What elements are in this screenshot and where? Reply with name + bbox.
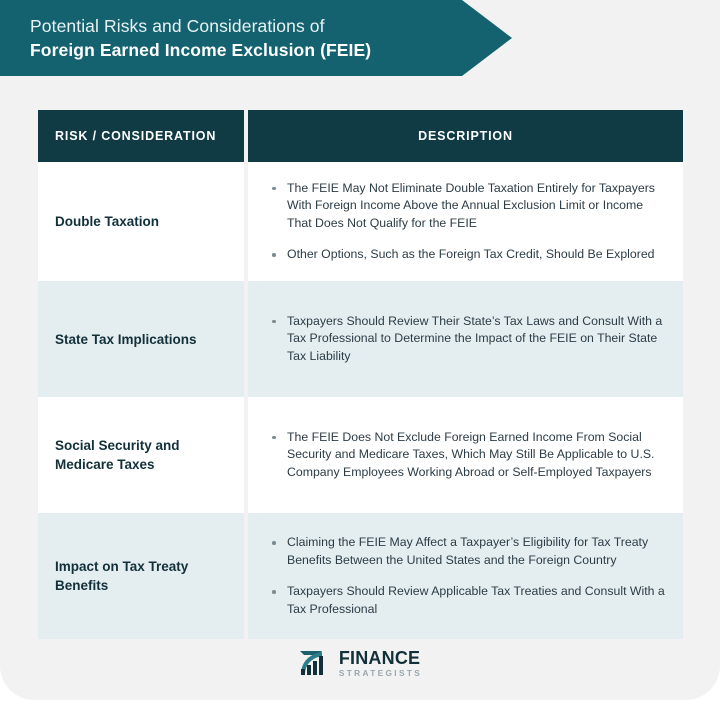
description-cell: Taxpayers Should Review Their State’s Ta… — [248, 281, 683, 397]
description-cell: The FEIE Does Not Exclude Foreign Earned… — [248, 397, 683, 513]
description-list: Claiming the FEIE May Affect a Taxpayer’… — [270, 534, 665, 618]
title-banner: Potential Risks and Considerations of Fo… — [0, 0, 512, 76]
list-item: The FEIE Does Not Exclude Foreign Earned… — [270, 429, 665, 482]
banner-subtitle: Potential Risks and Considerations of — [30, 14, 512, 38]
list-item: The FEIE May Not Eliminate Double Taxati… — [270, 180, 665, 233]
table-row: State Tax Implications Taxpayers Should … — [38, 281, 683, 397]
risk-label: State Tax Implications — [55, 330, 197, 349]
risk-label: Double Taxation — [55, 212, 159, 231]
description-list: Taxpayers Should Review Their State’s Ta… — [270, 313, 665, 366]
description-list: The FEIE May Not Eliminate Double Taxati… — [270, 180, 665, 264]
footer-logo: FINANCE STRATEGISTS — [0, 648, 720, 678]
risk-cell: Double Taxation — [38, 162, 244, 281]
risk-cell: Impact on Tax Treaty Benefits — [38, 513, 244, 639]
risk-label: Social Security and Medicare Taxes — [55, 436, 230, 474]
description-list: The FEIE Does Not Exclude Foreign Earned… — [270, 429, 665, 482]
list-item: Claiming the FEIE May Affect a Taxpayer’… — [270, 534, 665, 569]
banner-title: Foreign Earned Income Exclusion (FEIE) — [30, 38, 512, 62]
column-header-risk: RISK / CONSIDERATION — [38, 110, 244, 162]
list-item: Other Options, Such as the Foreign Tax C… — [270, 246, 665, 264]
list-item: Taxpayers Should Review Applicable Tax T… — [270, 583, 665, 618]
risk-label: Impact on Tax Treaty Benefits — [55, 557, 230, 595]
column-header-description: DESCRIPTION — [248, 110, 683, 162]
description-cell: Claiming the FEIE May Affect a Taxpayer’… — [248, 513, 683, 639]
table-row: Impact on Tax Treaty Benefits Claiming t… — [38, 513, 683, 639]
risk-cell: State Tax Implications — [38, 281, 244, 397]
finance-strategists-logo-icon — [298, 648, 332, 678]
infographic-root: Potential Risks and Considerations of Fo… — [0, 0, 720, 705]
risk-cell: Social Security and Medicare Taxes — [38, 397, 244, 513]
risks-table: RISK / CONSIDERATION DESCRIPTION Double … — [38, 110, 683, 639]
table-row: Double Taxation The FEIE May Not Elimina… — [38, 162, 683, 281]
logo-brand-name: FINANCE — [339, 649, 422, 667]
description-cell: The FEIE May Not Eliminate Double Taxati… — [248, 162, 683, 281]
table-header-row: RISK / CONSIDERATION DESCRIPTION — [38, 110, 683, 162]
logo-brand-subtitle: STRATEGISTS — [339, 669, 422, 677]
logo-wordmark: FINANCE STRATEGISTS — [339, 649, 422, 677]
list-item: Taxpayers Should Review Their State’s Ta… — [270, 313, 665, 366]
table-row: Social Security and Medicare Taxes The F… — [38, 397, 683, 513]
